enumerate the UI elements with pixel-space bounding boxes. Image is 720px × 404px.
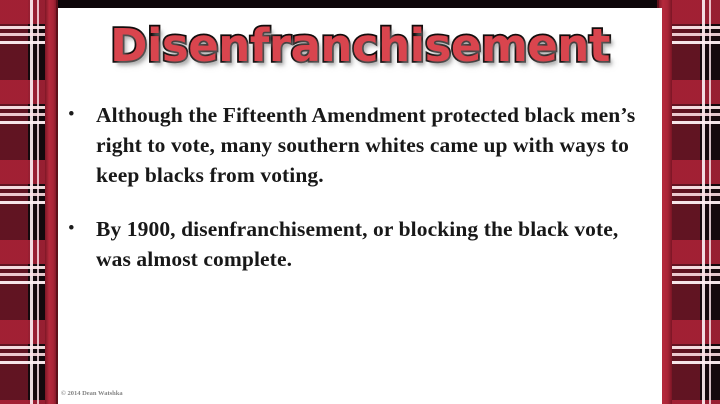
bullet-text: Although the Fifteenth Amendment protect… (96, 100, 658, 190)
list-item: • By 1900, disenfranchisement, or blocki… (62, 214, 658, 274)
bullet-text: By 1900, disenfranchisement, or blocking… (96, 214, 658, 274)
slide-title: Disenfranchisement (58, 20, 662, 72)
slide: Disenfranchisement • Although the Fiftee… (0, 0, 720, 404)
bullet-point-icon: • (62, 100, 96, 130)
bullet-point-icon: • (62, 214, 96, 244)
list-item: • Although the Fifteenth Amendment prote… (62, 100, 658, 190)
plaid-border-left (0, 0, 45, 404)
bullet-list: • Although the Fifteenth Amendment prote… (62, 100, 658, 298)
copyright-notice: © 2014 Dean Watshka (61, 390, 123, 398)
plaid-border-right (672, 0, 720, 404)
slide-content-area: Disenfranchisement • Although the Fiftee… (58, 8, 662, 404)
